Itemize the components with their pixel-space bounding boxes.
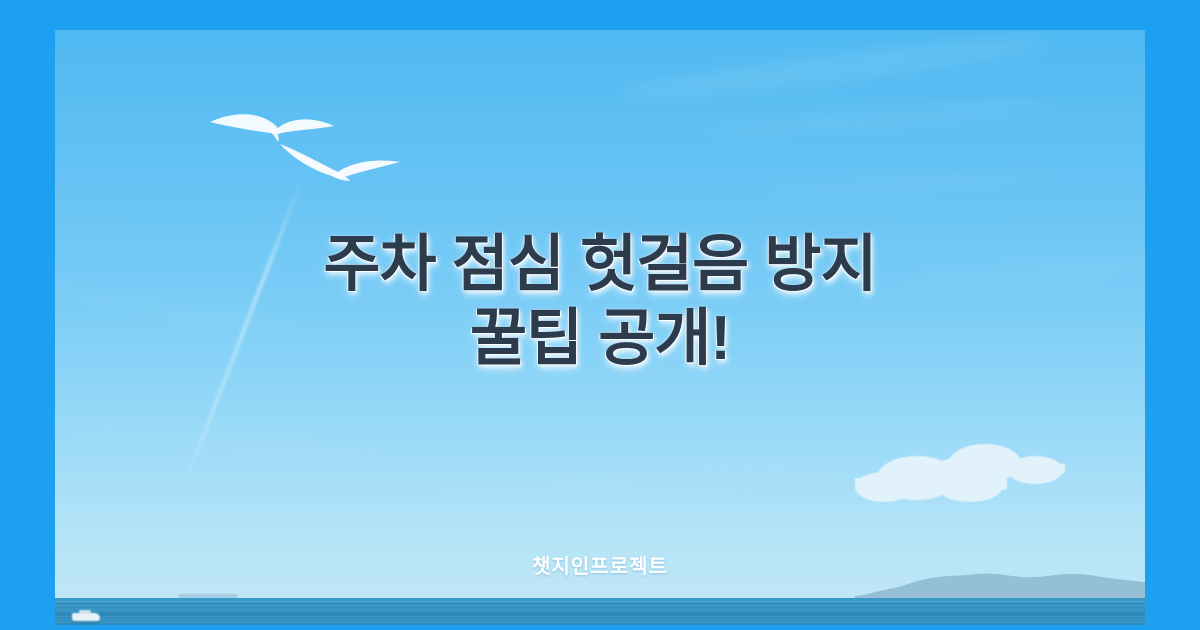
seagull-icon: [276, 138, 404, 186]
headline-text: 주차 점심 헛걸음 방지 꿀팁 공개!: [55, 228, 1145, 376]
sea-water: [0, 598, 1200, 630]
headline-block: 주차 점심 헛걸음 방지 꿀팁 공개!: [55, 228, 1145, 376]
thumbnail-canvas: 주차 점심 헛걸음 방지 꿀팁 공개! 챗지인프로젝트: [0, 0, 1200, 630]
brand-subtitle: 챗지인프로젝트: [55, 550, 1145, 579]
cumulus-cloud: [933, 444, 1065, 474]
small-boat: [72, 613, 100, 621]
